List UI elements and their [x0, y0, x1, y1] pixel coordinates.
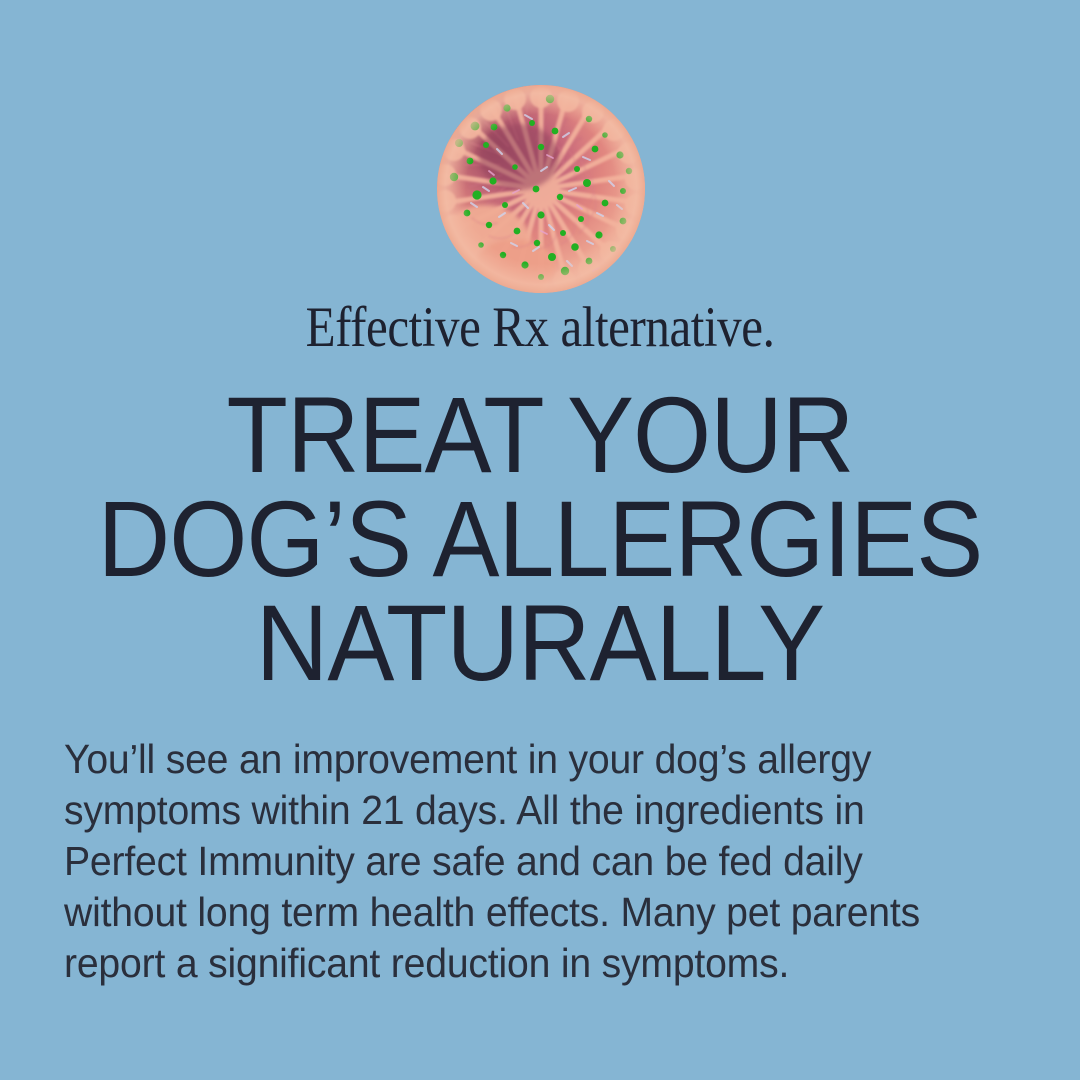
body-line-5: report a significant reduction in sympto…: [64, 938, 973, 989]
body-line-1: You’ll see an improvement in your dog’s …: [64, 734, 973, 785]
headline-line-3: NATURALLY: [38, 591, 1042, 695]
tagline: Effective Rx alternative.: [76, 299, 1005, 356]
gut-microbiome-circle-image: [437, 85, 645, 293]
body-paragraph: You’ll see an improvement in your dog’s …: [64, 734, 1016, 989]
page-title: TREAT YOUR DOG’S ALLERGIES NATURALLY: [0, 383, 1080, 695]
body-line-4: without long term health effects. Many p…: [64, 887, 973, 938]
headline-line-1: TREAT YOUR: [38, 383, 1042, 487]
headline-line-2: DOG’S ALLERGIES: [38, 487, 1042, 591]
body-line-3: Perfect Immunity are safe and can be fed…: [64, 836, 973, 887]
hero-image-container: [437, 85, 645, 293]
body-line-2: symptoms within 21 days. All the ingredi…: [64, 785, 973, 836]
poster-canvas: Effective Rx alternative. TREAT YOUR DOG…: [0, 0, 1080, 1080]
